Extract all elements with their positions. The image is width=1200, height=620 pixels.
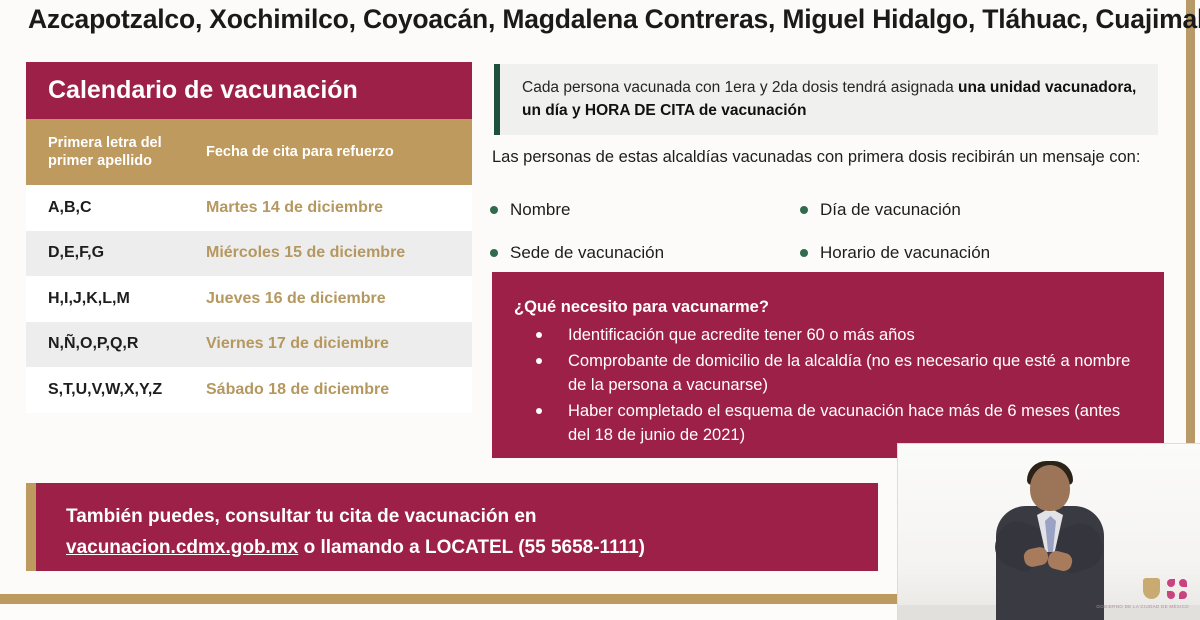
requirements-box: ¿Qué necesito para vacunarme? Identifica… (492, 272, 1164, 458)
list-item-label: Haber completado el esquema de vacunació… (568, 399, 1146, 447)
list-item: Sede de vacunación (490, 241, 800, 264)
cell-letters: A,B,C (26, 199, 206, 217)
bullet-dot-icon (490, 249, 498, 257)
column-header-date: Fecha de cita para refuerzo (206, 143, 472, 161)
requirements-title: ¿Qué necesito para vacunarme? (514, 298, 1146, 317)
bullet-dot-icon (536, 358, 542, 364)
vaccination-website-link[interactable]: vacunacion.cdmx.gob.mx (66, 537, 298, 558)
cell-letters: N,Ñ,O,P,Q,R (26, 335, 206, 353)
table-row: A,B,C Martes 14 de diciembre (26, 185, 472, 231)
calendar-title: Calendario de vacunación (26, 62, 472, 119)
cell-letters: H,I,J,K,L,M (26, 290, 206, 308)
bullet-row: Sede de vacunación Horario de vacunación (490, 241, 1170, 264)
message-intro-text: Las personas de estas alcaldías vacunada… (492, 145, 1172, 170)
bullet-dot-icon (536, 408, 542, 414)
table-row: H,I,J,K,L,M Jueves 16 de diciembre (26, 276, 472, 322)
list-item: Haber completado el esquema de vacunació… (514, 399, 1146, 447)
cell-date: Miércoles 15 de diciembre (206, 244, 472, 262)
list-item-label: Sede de vacunación (510, 241, 664, 264)
contact-banner: También puedes, consultar tu cita de vac… (26, 483, 878, 571)
vaccination-calendar-card: Calendario de vacunación Primera letra d… (26, 62, 472, 413)
bullet-dot-icon (490, 206, 498, 214)
table-row: D,E,F,G Miércoles 15 de diciembre (26, 231, 472, 277)
bullet-row: Nombre Día de vacunación (490, 198, 1170, 221)
cell-letters: D,E,F,G (26, 244, 206, 262)
interpreter-head (1030, 465, 1070, 511)
sign-language-interpreter-video[interactable]: GOBIERNO DE LA CIUDAD DE MÉXICO (897, 443, 1200, 620)
list-item: Nombre (490, 198, 800, 221)
contact-banner-line1: También puedes, consultar tu cita de vac… (66, 501, 878, 532)
list-item-label: Nombre (510, 198, 570, 221)
bullet-dot-icon (536, 332, 542, 338)
list-item: Horario de vacunación (800, 241, 1110, 264)
list-item-label: Comprobante de domicilio de la alcaldía … (568, 349, 1146, 397)
shield-crest-icon (1143, 578, 1160, 599)
list-item: Identificación que acredite tener 60 o m… (514, 323, 1146, 347)
calendar-column-headers: Primera letra del primer apellido Fecha … (26, 119, 472, 185)
cell-date: Martes 14 de diciembre (206, 199, 472, 217)
page-title: Azcapotzalco, Xochimilco, Coyoacán, Magd… (28, 4, 1178, 35)
cell-date: Viernes 17 de diciembre (206, 335, 472, 353)
contact-banner-line2: vacunacion.cdmx.gob.mx o llamando a LOCA… (66, 532, 878, 563)
list-item-label: Día de vacunación (820, 198, 961, 221)
slide-canvas: Azcapotzalco, Xochimilco, Coyoacán, Magd… (0, 0, 1200, 620)
bullet-dot-icon (800, 249, 808, 257)
cell-letters: S,T,U,V,W,X,Y,Z (26, 381, 206, 399)
cell-date: Sábado 18 de diciembre (206, 381, 472, 399)
list-item-label: Horario de vacunación (820, 241, 990, 264)
column-header-letter: Primera letra del primer apellido (26, 134, 206, 170)
requirements-list: Identificación que acredite tener 60 o m… (514, 323, 1146, 447)
cell-date: Jueves 16 de diciembre (206, 290, 472, 308)
callout-text: Cada persona vacunada con 1era y 2da dos… (522, 79, 958, 96)
bullet-dot-icon (800, 206, 808, 214)
list-item-label: Identificación que acredite tener 60 o m… (568, 323, 915, 347)
list-item: Día de vacunación (800, 198, 1110, 221)
list-item: Comprobante de domicilio de la alcaldía … (514, 349, 1146, 397)
government-logos (1143, 578, 1187, 599)
appointment-callout: Cada persona vacunada con 1era y 2da dos… (494, 64, 1158, 135)
logo-caption: GOBIERNO DE LA CIUDAD DE MÉXICO (1096, 604, 1189, 609)
contact-banner-phone-text: o llamando a LOCATEL (55 5658-1111) (298, 537, 645, 558)
cdmx-flower-icon (1167, 579, 1187, 599)
table-row: N,Ñ,O,P,Q,R Viernes 17 de diciembre (26, 322, 472, 368)
table-row: S,T,U,V,W,X,Y,Z Sábado 18 de diciembre (26, 367, 472, 413)
decorative-gold-bar-right (1186, 0, 1195, 445)
